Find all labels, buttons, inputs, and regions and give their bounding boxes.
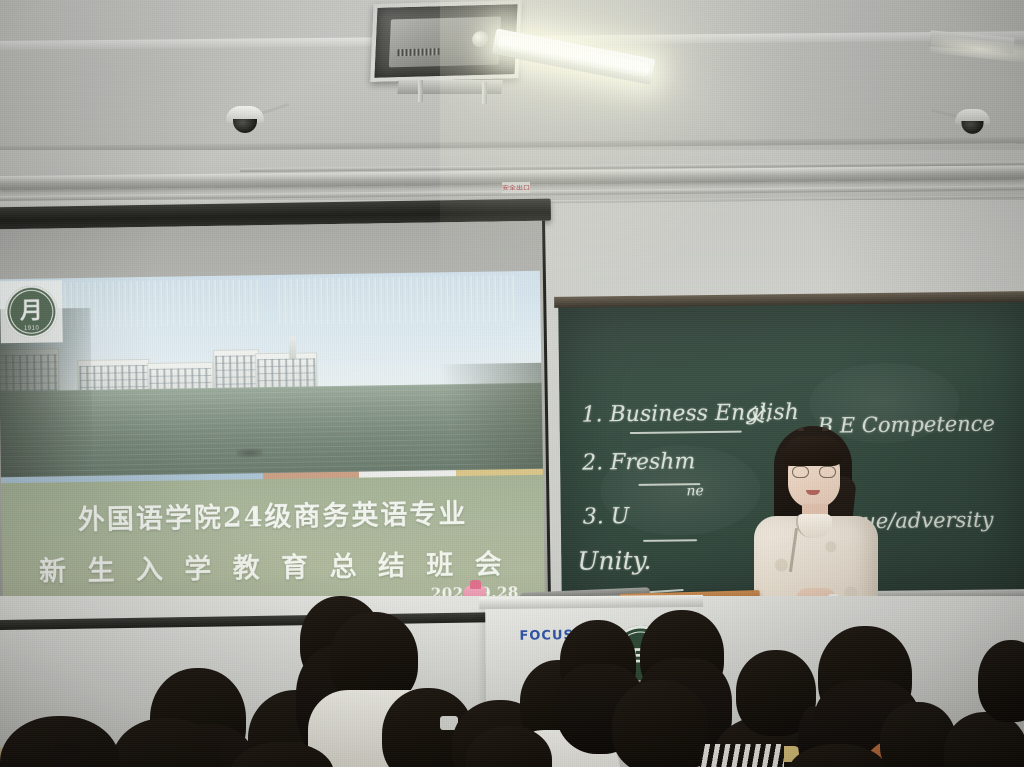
- projected-slide: 月 1910 外国语学院24级商务英语专业 新 生 入 学 教 育 总 结 班 …: [0, 271, 545, 619]
- projector-rod-right: [482, 82, 487, 104]
- student-striped-shirt: [700, 744, 784, 767]
- blackboard-line-3: 3. U: [583, 504, 630, 530]
- emblem-year: 1910: [6, 325, 58, 332]
- slide-tower: [289, 337, 296, 359]
- glasses-lens-left: [792, 466, 809, 478]
- classroom-photo: 安全出口: [0, 0, 1024, 767]
- glasses-lens-right: [819, 466, 836, 478]
- glasses-icon: [792, 466, 836, 478]
- projector-lens: [472, 31, 489, 47]
- chair-back: [54, 744, 80, 767]
- exit-sign: 安全出口: [502, 182, 530, 193]
- projector-rod-left: [418, 80, 423, 102]
- slide-reflection-2: [278, 275, 519, 325]
- blackboard-line-4: Unity.: [577, 546, 651, 576]
- blackboard-line-2: 2. Freshm: [582, 449, 695, 475]
- slide-title-line-1: 外国语学院24级商务英语专业: [1, 491, 544, 539]
- projector-vents: [397, 48, 439, 56]
- slide-photo: 月 1910: [0, 271, 543, 477]
- emblem-ring: 月 1910: [5, 285, 58, 338]
- podium-top-surface: [479, 595, 703, 609]
- water-bottle-cap: [470, 580, 481, 589]
- emblem-glyph: 月: [20, 298, 43, 321]
- university-emblem: 月 1910: [0, 280, 63, 343]
- projector-body: [389, 17, 501, 68]
- slide-title-line-2: 新 生 入 学 教 育 总 结 班 会: [2, 542, 545, 590]
- projection-screen: 月 1910 外国语学院24级商务英语专业 新 生 入 学 教 育 总 结 班 …: [0, 199, 557, 628]
- blackboard-annotation-ne: ne: [686, 483, 704, 499]
- blackboard-underline-1: [630, 431, 742, 434]
- slide-boat: [237, 448, 263, 457]
- teacher-eye-left: [798, 428, 804, 431]
- exit-sign-text: 安全出口: [502, 183, 530, 192]
- screen-surface: 月 1910 外国语学院24级商务英语专业 新 生 入 学 教 育 总 结 班 …: [0, 221, 551, 625]
- teacher-eye-right: [822, 428, 828, 431]
- student-head: [612, 680, 708, 767]
- blackboard-underline-3: [643, 539, 697, 542]
- slide-shadow-right: [431, 363, 543, 471]
- teacher-fringe: [784, 436, 844, 466]
